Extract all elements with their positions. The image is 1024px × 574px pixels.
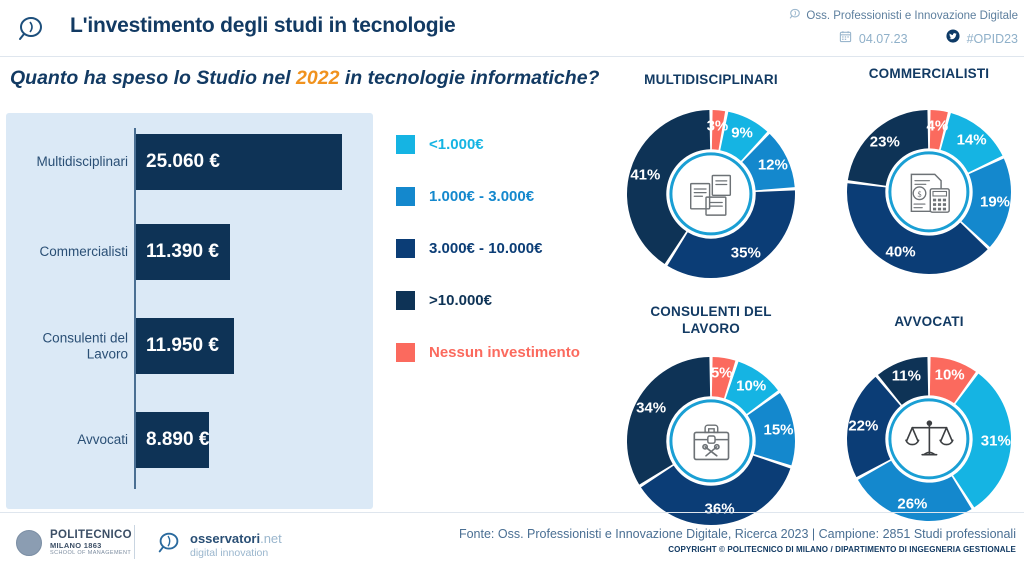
donut-percentage-label: 23% — [870, 133, 900, 150]
legend-label: Nessun investimento — [429, 344, 580, 361]
politecnico-name: POLITECNICO — [50, 529, 132, 542]
donut-ring: 3%9%12%35%41% — [625, 108, 797, 280]
observatory-name: Oss. Professionisti e Innovazione Digita… — [806, 10, 1018, 22]
bar-row: Avvocati8.890 € — [0, 412, 360, 468]
donut-title: AVVOCATI — [845, 314, 1013, 331]
header-meta: Oss. Professionisti e Innovazione Digita… — [789, 8, 1018, 48]
politecnico-logo: POLITECNICO MILANO 1863 SCHOOL OF MANAGE… — [16, 529, 132, 556]
donut-percentage-label: 35% — [731, 244, 761, 261]
osservatori-tagline: digital innovation — [190, 547, 282, 559]
donut-percentage-label: 10% — [935, 367, 965, 384]
legend-item[interactable]: <1.000€ — [396, 131, 580, 157]
bar-row: Commercialisti11.390 € — [0, 224, 360, 280]
toolbox-icon — [669, 399, 752, 482]
legend-swatch — [396, 135, 415, 154]
legend-label: >10.000€ — [429, 292, 492, 309]
page-header: L'investimento degli studi in tecnologie… — [0, 0, 1024, 57]
legend-swatch — [396, 343, 415, 362]
copyright-text: COPYRIGHT © POLITECNICO DI MILANO / DIPA… — [459, 545, 1016, 554]
osservatori-logo: osservatori.net digital innovation — [155, 529, 282, 562]
legend-swatch — [396, 291, 415, 310]
twitter-bird-icon[interactable] — [946, 29, 960, 48]
event-date: 04.07.23 — [859, 32, 908, 46]
bar-category-label: Consulenti del Lavoro — [8, 330, 128, 361]
footer-source: Fonte: Oss. Professionisti e Innovazione… — [459, 527, 1016, 554]
legend-label: 1.000€ - 3.000€ — [429, 188, 534, 205]
chart-legend: <1.000€1.000€ - 3.000€3.000€ - 10.000€>1… — [396, 131, 580, 391]
donut-percentage-label: 40% — [886, 244, 916, 261]
politecnico-year: MILANO 1863 — [50, 542, 132, 550]
osservatori-tld: .net — [260, 531, 282, 546]
question-part2: in tecnologie informatiche? — [339, 67, 599, 89]
puzzle-documents-icon — [669, 152, 752, 235]
donut-percentage-label: 4% — [927, 117, 949, 134]
bar-category-label: Multidisciplinari — [8, 154, 128, 170]
legend-swatch — [396, 239, 415, 258]
invoice-calculator-icon: $ — [888, 151, 969, 232]
bar-category-label: Avvocati — [8, 432, 128, 448]
donut-percentage-label: 22% — [848, 418, 878, 435]
speech-bubble-magnifier-icon — [155, 529, 183, 562]
speech-bubble-icon — [789, 8, 801, 23]
donut-percentage-label: 14% — [957, 132, 987, 149]
question-year: 2022 — [296, 67, 339, 89]
legend-item[interactable]: Nessun investimento — [396, 339, 580, 365]
page-footer: POLITECNICO MILANO 1863 SCHOOL OF MANAGE… — [0, 512, 1024, 574]
legend-swatch — [396, 187, 415, 206]
question-part1: Quanto ha speso lo Studio nel — [10, 67, 296, 89]
justice-scales-icon — [888, 398, 969, 479]
politecnico-school: SCHOOL OF MANAGEMENT — [50, 550, 132, 556]
section-question: Quanto ha speso lo Studio nel 2022 in te… — [10, 67, 599, 90]
donut-percentage-label: 9% — [731, 125, 753, 142]
svg-text:$: $ — [917, 189, 921, 198]
donut-percentage-label: 11% — [892, 368, 921, 385]
donut-title: MULTIDISCIPLINARI — [625, 72, 797, 89]
bar-value-label: 25.060 € — [146, 151, 220, 173]
source-text: Fonte: Oss. Professionisti e Innovazione… — [459, 527, 1016, 541]
donut-ring: 10%31%26%22%11% — [845, 355, 1013, 523]
legend-label: 3.000€ - 10.000€ — [429, 240, 542, 257]
osservatori-name: osservatori — [190, 531, 260, 546]
bar-category-label: Commercialisti — [8, 244, 128, 260]
footer-divider — [134, 525, 135, 559]
donut-percentage-label: 26% — [897, 495, 927, 512]
bar-row: Consulenti del Lavoro11.950 € — [0, 318, 360, 374]
donut-ring: 5%10%15%36%34% — [625, 355, 797, 527]
bar-value-label: 11.390 € — [146, 241, 219, 263]
bar-value-label: 8.890 € — [146, 429, 209, 451]
legend-item[interactable]: 1.000€ - 3.000€ — [396, 183, 580, 209]
donut-percentage-label: 12% — [758, 156, 788, 173]
legend-label: <1.000€ — [429, 136, 484, 153]
donut-percentage-label: 19% — [980, 194, 1010, 211]
donut-percentage-label: 3% — [707, 117, 729, 134]
bar-value-label: 11.950 € — [146, 335, 219, 357]
page-title: L'investimento degli studi in tecnologie — [70, 14, 456, 38]
bar-row: Multidisciplinari25.060 € — [0, 134, 360, 190]
donut-percentage-label: 5% — [711, 365, 733, 382]
donut-percentage-label: 31% — [981, 433, 1011, 450]
legend-item[interactable]: >10.000€ — [396, 287, 580, 313]
donut-title: COMMERCIALISTI — [845, 66, 1013, 83]
donut-percentage-label: 34% — [636, 400, 666, 417]
event-hashtag: #OPID23 — [967, 32, 1018, 46]
donut-ring: 4%14%19%40%23% $ — [845, 108, 1013, 276]
politecnico-seal-icon — [16, 530, 42, 556]
calendar-icon — [839, 30, 852, 48]
donut-title: CONSULENTI DEL LAVORO — [625, 304, 797, 338]
donut-percentage-label: 41% — [630, 166, 660, 183]
donut-percentage-label: 15% — [764, 422, 794, 439]
legend-item[interactable]: 3.000€ - 10.000€ — [396, 235, 580, 261]
donut-percentage-label: 10% — [736, 377, 766, 394]
speech-bubble-magnifier-icon — [14, 12, 48, 46]
